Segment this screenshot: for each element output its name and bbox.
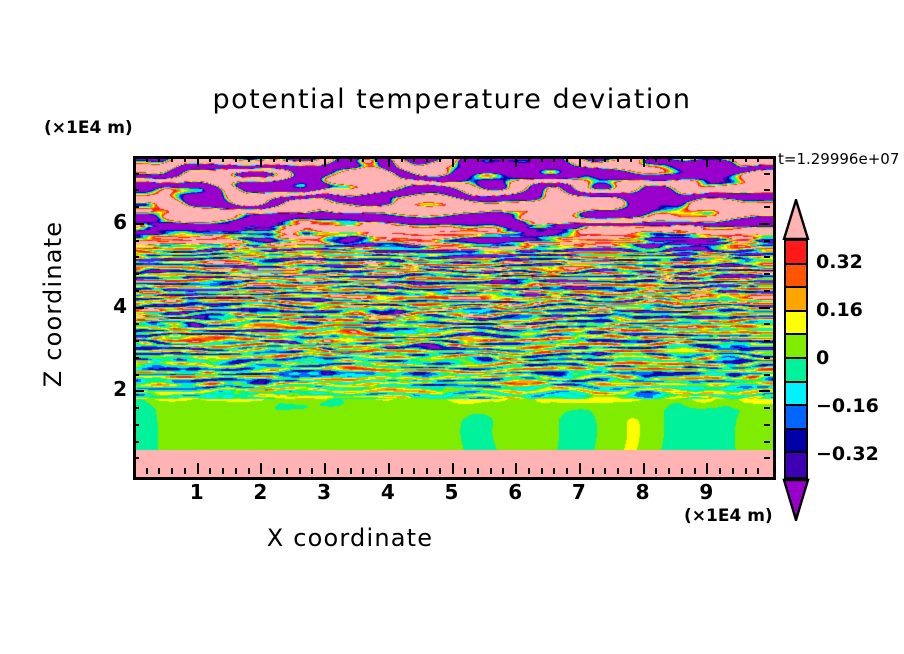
colorbar-under-cap: [782, 478, 810, 521]
y-minor-tick: [764, 340, 770, 342]
y-minor-tick: [133, 374, 139, 376]
x-minor-tick: [592, 156, 594, 162]
x-major-tick: [388, 463, 390, 474]
y-major-tick: [133, 390, 144, 392]
colorbar: [784, 239, 808, 479]
x-major-tick: [197, 156, 199, 167]
x-tick-label: 4: [373, 480, 403, 504]
x-major-tick: [452, 156, 454, 167]
x-minor-tick: [528, 468, 530, 474]
x-minor-tick: [299, 156, 301, 162]
x-major-tick: [260, 156, 262, 167]
x-minor-tick: [604, 156, 606, 162]
x-minor-tick: [694, 156, 696, 162]
y-minor-tick: [133, 256, 139, 258]
x-minor-tick: [362, 156, 364, 162]
x-minor-tick: [681, 156, 683, 162]
x-minor-tick: [528, 156, 530, 162]
x-minor-tick: [464, 156, 466, 162]
y-major-tick: [133, 223, 144, 225]
x-minor-tick: [604, 468, 606, 474]
x-minor-tick: [592, 468, 594, 474]
x-minor-tick: [273, 156, 275, 162]
y-minor-tick: [764, 323, 770, 325]
x-minor-tick: [757, 156, 759, 162]
y-minor-tick: [764, 357, 770, 359]
colorbar-tick-label: 0.32: [816, 251, 863, 273]
y-minor-tick: [764, 407, 770, 409]
y-minor-tick: [133, 206, 139, 208]
x-minor-tick: [235, 468, 237, 474]
x-tick-label: 3: [309, 480, 339, 504]
x-minor-tick: [222, 156, 224, 162]
x-major-tick: [324, 156, 326, 167]
x-minor-tick: [630, 468, 632, 474]
x-minor-tick: [401, 156, 403, 162]
x-minor-tick: [184, 468, 186, 474]
x-minor-tick: [655, 468, 657, 474]
x-minor-tick: [337, 468, 339, 474]
x-major-tick: [579, 156, 581, 167]
x-minor-tick: [668, 156, 670, 162]
colorbar-band: [786, 241, 806, 265]
x-minor-tick: [732, 156, 734, 162]
y-tick-label: 6: [101, 210, 127, 234]
x-minor-tick: [541, 468, 543, 474]
x-minor-tick: [694, 468, 696, 474]
x-minor-tick: [375, 468, 377, 474]
y-tick-label: 4: [101, 294, 127, 318]
colorbar-over-cap: [782, 199, 810, 240]
colorbar-band: [786, 383, 806, 407]
y-minor-tick: [764, 273, 770, 275]
colorbar-tick-label: 0.16: [816, 299, 863, 321]
x-major-tick: [706, 156, 708, 167]
y-minor-tick: [133, 273, 139, 275]
y-minor-tick: [133, 323, 139, 325]
page-title: potential temperature deviation: [0, 84, 904, 115]
x-minor-tick: [668, 468, 670, 474]
y-axis-title: Z coordinate: [39, 204, 67, 404]
y-minor-tick: [764, 240, 770, 242]
y-tick-label: 2: [101, 377, 127, 401]
x-tick-label: 7: [564, 480, 594, 504]
y-minor-tick: [133, 240, 139, 242]
x-minor-tick: [413, 468, 415, 474]
colorbar-band: [786, 312, 806, 336]
x-minor-tick: [146, 468, 148, 474]
x-minor-tick: [273, 468, 275, 474]
x-minor-tick: [337, 156, 339, 162]
x-minor-tick: [146, 156, 148, 162]
contour-plot-frame: [133, 156, 776, 480]
y-minor-tick: [764, 206, 770, 208]
colorbar-band: [786, 453, 806, 477]
x-minor-tick: [362, 468, 364, 474]
x-minor-tick: [299, 468, 301, 474]
x-major-tick: [388, 156, 390, 167]
y-major-tick: [759, 390, 770, 392]
x-major-tick: [579, 463, 581, 474]
x-minor-tick: [209, 156, 211, 162]
x-minor-tick: [286, 156, 288, 162]
y-major-tick: [133, 307, 144, 309]
x-minor-tick: [477, 156, 479, 162]
colorbar-band: [786, 406, 806, 430]
colorbar-band: [786, 335, 806, 359]
colorbar-band: [786, 359, 806, 383]
x-minor-tick: [286, 468, 288, 474]
x-minor-tick: [171, 156, 173, 162]
x-minor-tick: [350, 156, 352, 162]
x-minor-tick: [617, 468, 619, 474]
y-major-tick: [759, 307, 770, 309]
x-major-tick: [515, 463, 517, 474]
x-tick-label: 9: [691, 480, 721, 504]
colorbar-tick-label: 0: [816, 347, 829, 369]
y-minor-tick: [133, 407, 139, 409]
x-major-tick: [643, 156, 645, 167]
x-minor-tick: [655, 156, 657, 162]
x-axis-unit-label: (×1E4 m): [684, 506, 773, 526]
x-minor-tick: [757, 468, 759, 474]
x-major-tick: [515, 156, 517, 167]
x-minor-tick: [490, 468, 492, 474]
contour-field: [136, 159, 773, 477]
x-minor-tick: [719, 468, 721, 474]
x-major-tick: [197, 463, 199, 474]
y-minor-tick: [133, 424, 139, 426]
x-minor-tick: [617, 156, 619, 162]
y-major-tick: [759, 223, 770, 225]
y-minor-tick: [133, 173, 139, 175]
x-minor-tick: [502, 156, 504, 162]
x-major-tick: [324, 463, 326, 474]
x-minor-tick: [553, 156, 555, 162]
x-major-tick: [452, 463, 454, 474]
x-tick-label: 8: [628, 480, 658, 504]
colorbar-tick-label: −0.16: [816, 395, 879, 417]
x-minor-tick: [553, 468, 555, 474]
y-minor-tick: [764, 189, 770, 191]
colorbar-band: [786, 265, 806, 289]
x-minor-tick: [401, 468, 403, 474]
x-minor-tick: [426, 468, 428, 474]
x-minor-tick: [490, 156, 492, 162]
x-minor-tick: [439, 156, 441, 162]
y-minor-tick: [133, 290, 139, 292]
x-tick-label: 2: [245, 480, 275, 504]
x-minor-tick: [413, 156, 415, 162]
x-minor-tick: [235, 156, 237, 162]
x-minor-tick: [184, 156, 186, 162]
x-minor-tick: [222, 468, 224, 474]
y-axis-unit-label: (×1E4 m): [44, 118, 133, 138]
x-minor-tick: [566, 156, 568, 162]
time-annotation: t=1.29996e+07: [778, 150, 899, 168]
x-minor-tick: [426, 156, 428, 162]
x-minor-tick: [464, 468, 466, 474]
x-minor-tick: [158, 468, 160, 474]
x-axis-title: X coordinate: [0, 524, 700, 552]
x-minor-tick: [171, 468, 173, 474]
y-minor-tick: [133, 189, 139, 191]
y-minor-tick: [764, 457, 770, 459]
x-minor-tick: [158, 156, 160, 162]
x-major-tick: [643, 463, 645, 474]
x-tick-label: 6: [500, 480, 530, 504]
x-minor-tick: [375, 156, 377, 162]
x-minor-tick: [248, 156, 250, 162]
colorbar-band: [786, 430, 806, 454]
x-minor-tick: [745, 468, 747, 474]
y-minor-tick: [133, 340, 139, 342]
x-minor-tick: [209, 468, 211, 474]
x-minor-tick: [732, 468, 734, 474]
x-major-tick: [706, 463, 708, 474]
x-tick-label: 5: [437, 480, 467, 504]
y-minor-tick: [764, 424, 770, 426]
y-minor-tick: [764, 256, 770, 258]
x-minor-tick: [541, 156, 543, 162]
y-minor-tick: [133, 457, 139, 459]
y-minor-tick: [764, 173, 770, 175]
x-minor-tick: [477, 468, 479, 474]
x-minor-tick: [566, 468, 568, 474]
x-minor-tick: [719, 156, 721, 162]
x-minor-tick: [350, 468, 352, 474]
colorbar-tick-label: −0.32: [816, 443, 879, 465]
y-minor-tick: [764, 374, 770, 376]
y-minor-tick: [764, 441, 770, 443]
x-minor-tick: [248, 468, 250, 474]
colorbar-band: [786, 288, 806, 312]
y-minor-tick: [133, 441, 139, 443]
x-minor-tick: [681, 468, 683, 474]
x-minor-tick: [311, 468, 313, 474]
y-minor-tick: [764, 290, 770, 292]
x-minor-tick: [630, 156, 632, 162]
x-tick-label: 1: [182, 480, 212, 504]
x-minor-tick: [311, 156, 313, 162]
x-minor-tick: [439, 468, 441, 474]
x-major-tick: [260, 463, 262, 474]
x-minor-tick: [502, 468, 504, 474]
y-minor-tick: [133, 357, 139, 359]
x-minor-tick: [745, 156, 747, 162]
